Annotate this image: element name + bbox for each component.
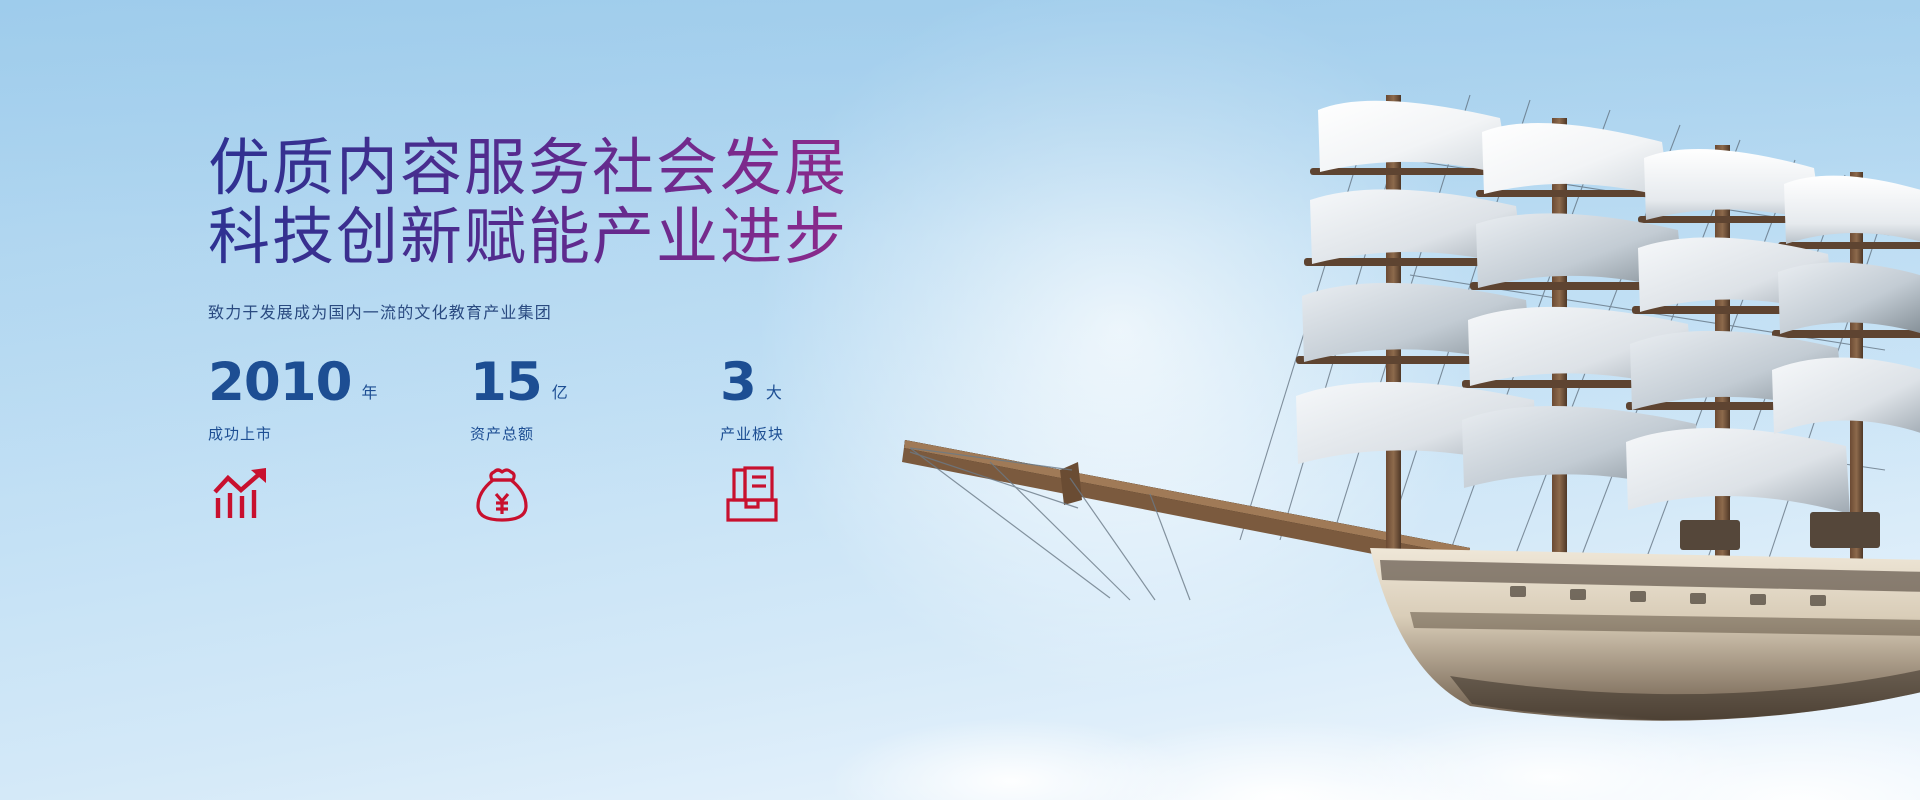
stat-unit: 大 [766,379,782,403]
page-title: 优质内容服务社会发展 科技创新赋能产业进步 [208,134,968,273]
hero-banner: 优质内容服务社会发展 科技创新赋能产业进步 致力于发展成为国内一流的文化教育产业… [0,0,1920,800]
stat-value: 3 大 [720,356,982,409]
page-subtitle: 致力于发展成为国内一流的文化教育产业集团 [208,299,968,323]
stat-item-assets: 15 亿 资产总额 [470,356,720,524]
stat-label: 产业板块 [720,423,982,444]
stats-row: 2010 年 成功上市 15 [208,356,982,524]
stat-label: 成功上市 [208,423,470,444]
sea-foam-clouds [810,630,1920,800]
hero-copy: 优质内容服务社会发展 科技创新赋能产业进步 致力于发展成为国内一流的文化教育产业… [208,134,968,323]
stat-item-sectors: 3 大 产业板块 [720,356,982,524]
stat-number: 15 [470,356,542,409]
money-bag-icon [470,466,534,524]
stat-item-listing: 2010 年 成功上市 [208,356,470,524]
stat-unit: 年 [362,379,378,403]
stat-label: 资产总额 [470,423,720,444]
stat-value: 2010 年 [208,356,470,409]
growth-chart-icon [208,466,272,524]
document-tray-icon [720,466,784,524]
stat-value: 15 亿 [470,356,720,409]
stat-number: 2010 [208,356,352,409]
headline-line-1: 优质内容服务社会发展 [208,134,848,203]
headline-line-2: 科技创新赋能产业进步 [208,203,968,272]
stat-unit: 亿 [552,379,568,403]
stat-number: 3 [720,356,756,409]
